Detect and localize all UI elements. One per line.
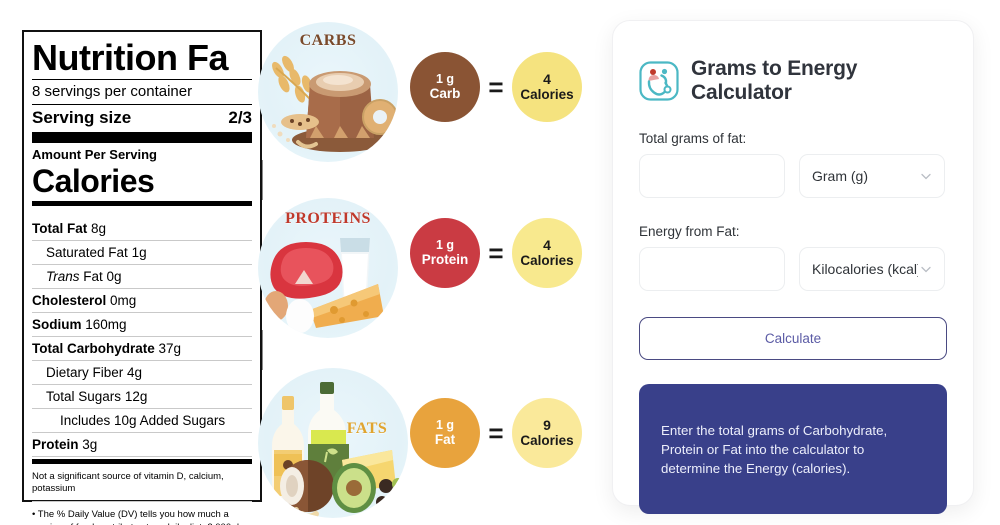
calculator-card: Grams to Energy Calculator Total grams o… xyxy=(612,20,974,506)
result-unit: Calories xyxy=(520,433,573,448)
result-value: 4 xyxy=(543,238,551,254)
nutrient-row: Includes 10g Added Sugars xyxy=(32,409,252,433)
amount-per-serving-label: Amount Per Serving xyxy=(32,145,252,163)
nutrient-row: Saturated Fat 1g xyxy=(32,241,252,265)
nutrition-facts-label: Nutrition Fa 8 servings per container Se… xyxy=(22,30,262,502)
serving-size-value: 2/3 xyxy=(228,107,252,129)
nutrient-row: Trans Fat 0g xyxy=(32,265,252,289)
nutrient-amount: 12g xyxy=(125,389,148,404)
nutrient-name: Total Carbohydrate xyxy=(32,341,155,356)
energy-unit-select[interactable]: Kilocalories (kcal) xyxy=(799,247,945,291)
nutrient-name: Includes 10g Added Sugars xyxy=(60,413,225,428)
fat-grams-field-row: Gram (g) xyxy=(639,154,947,198)
energy-from-fat-label: Energy from Fat: xyxy=(639,224,947,239)
source-circle-protein: 1 g Protein xyxy=(410,218,480,288)
fat-grams-input[interactable] xyxy=(639,154,785,198)
footnote-vitamins: Not a significant source of vitamin D, c… xyxy=(32,466,252,502)
result-unit: Calories xyxy=(520,253,573,268)
nutrient-amount: 37g xyxy=(159,341,182,356)
nutrient-name: Dietary Fiber xyxy=(46,365,123,380)
equals-sign: = xyxy=(480,238,512,269)
equals-sign: = xyxy=(480,418,512,449)
nutrient-amount: 0mg xyxy=(110,293,136,308)
nutrient-row: Sodium 160mg xyxy=(32,313,252,337)
nutrition-facts-title: Nutrition Fa xyxy=(32,38,252,78)
nutrient-amount: 8g xyxy=(91,221,106,236)
fat-grams-unit-select[interactable]: Gram (g) xyxy=(799,154,945,198)
divider xyxy=(32,79,252,80)
energy-unit-value: Kilocalories (kcal) xyxy=(812,261,918,277)
equation-row-protein: 1 g Protein = 4 Calories xyxy=(410,218,582,288)
chevron-down-icon xyxy=(920,170,932,182)
nutrient-row: Dietary Fiber 4g xyxy=(32,361,252,385)
energy-from-fat-input[interactable] xyxy=(639,247,785,291)
equation-row-carb: 1 g Carb = 4 Calories xyxy=(410,52,582,122)
nutrient-amount: 4g xyxy=(127,365,142,380)
result-circle-fat: 9 Calories xyxy=(512,398,582,468)
source-amount: 1 g xyxy=(436,418,454,432)
equals-sign: = xyxy=(480,72,512,103)
nutrient-amount: 160mg xyxy=(85,317,126,332)
nutrient-rows: Total Fat 8gSaturated Fat 1gTrans Fat 0g… xyxy=(32,217,252,457)
food-group-carbs: CARBS xyxy=(258,22,398,162)
fat-grams-unit-value: Gram (g) xyxy=(812,168,918,184)
stethoscope-heart-people-icon xyxy=(639,61,679,101)
result-unit: Calories xyxy=(520,87,573,102)
nutrient-name: Total Sugars xyxy=(46,389,121,404)
source-nutrient: Protein xyxy=(422,252,469,267)
calories-label: Calories xyxy=(32,163,252,199)
nutrient-name: Trans Fat xyxy=(46,269,103,284)
chevron-down-icon xyxy=(920,263,932,275)
info-box: Enter the total grams of Carbohydrate, P… xyxy=(639,384,947,514)
result-circle-carb: 4 Calories xyxy=(512,52,582,122)
calculator-title: Grams to Energy Calculator xyxy=(691,57,947,105)
fat-grams-label: Total grams of fat: xyxy=(639,131,947,146)
source-amount: 1 g xyxy=(436,238,454,252)
calculate-button[interactable]: Calculate xyxy=(639,317,947,360)
equation-row-fat: 1 g Fat = 9 Calories xyxy=(410,398,582,468)
divider-medium xyxy=(32,459,252,464)
food-group-proteins: PROTEINS xyxy=(258,198,398,338)
result-value: 4 xyxy=(543,72,551,88)
source-amount: 1 g xyxy=(436,72,454,86)
result-circle-protein: 4 Calories xyxy=(512,218,582,288)
footnote-daily-value: • The % Daily Value (DV) tells you how m… xyxy=(32,502,252,525)
nutrient-row: Cholesterol 0mg xyxy=(32,289,252,313)
source-circle-carb: 1 g Carb xyxy=(410,52,480,122)
fats-illustration xyxy=(258,368,408,518)
source-nutrient: Fat xyxy=(435,432,455,447)
nutrient-name: Cholesterol xyxy=(32,293,106,308)
servings-per-container: 8 servings per container xyxy=(32,81,252,103)
food-group-caption: FATS xyxy=(332,420,402,438)
nutrient-row: Total Fat 8g xyxy=(32,217,252,241)
divider-medium xyxy=(32,201,252,206)
food-group-caption: PROTEINS xyxy=(258,210,398,228)
calculator-header: Grams to Energy Calculator xyxy=(639,21,947,105)
nutrient-amount: 0g xyxy=(107,269,122,284)
nutrient-amount: 1g xyxy=(132,245,147,260)
nutrient-name: Saturated Fat xyxy=(46,245,128,260)
source-nutrient: Carb xyxy=(430,86,461,101)
connector-line-vertical xyxy=(262,160,263,200)
food-group-fats: FATS xyxy=(258,368,408,518)
nutrient-amount: 3g xyxy=(82,437,97,452)
serving-size-label: Serving size xyxy=(32,107,131,129)
food-group-caption: CARBS xyxy=(258,32,398,50)
nutrient-row: Total Carbohydrate 37g xyxy=(32,337,252,361)
nutrient-name: Protein xyxy=(32,437,79,452)
info-text: Enter the total grams of Carbohydrate, P… xyxy=(661,421,925,478)
screenshot-root: Nutrition Fa 8 servings per container Se… xyxy=(0,0,1000,525)
nutrient-name: Sodium xyxy=(32,317,82,332)
serving-size-row: Serving size 2/3 xyxy=(32,106,252,130)
source-circle-fat: 1 g Fat xyxy=(410,398,480,468)
nutrient-name: Total Fat xyxy=(32,221,87,236)
divider xyxy=(32,104,252,105)
nutrient-row: Protein 3g xyxy=(32,433,252,457)
energy-from-fat-field-row: Kilocalories (kcal) xyxy=(639,247,947,291)
nutrient-row: Total Sugars 12g xyxy=(32,385,252,409)
result-value: 9 xyxy=(543,418,551,434)
divider-thick xyxy=(32,132,252,143)
